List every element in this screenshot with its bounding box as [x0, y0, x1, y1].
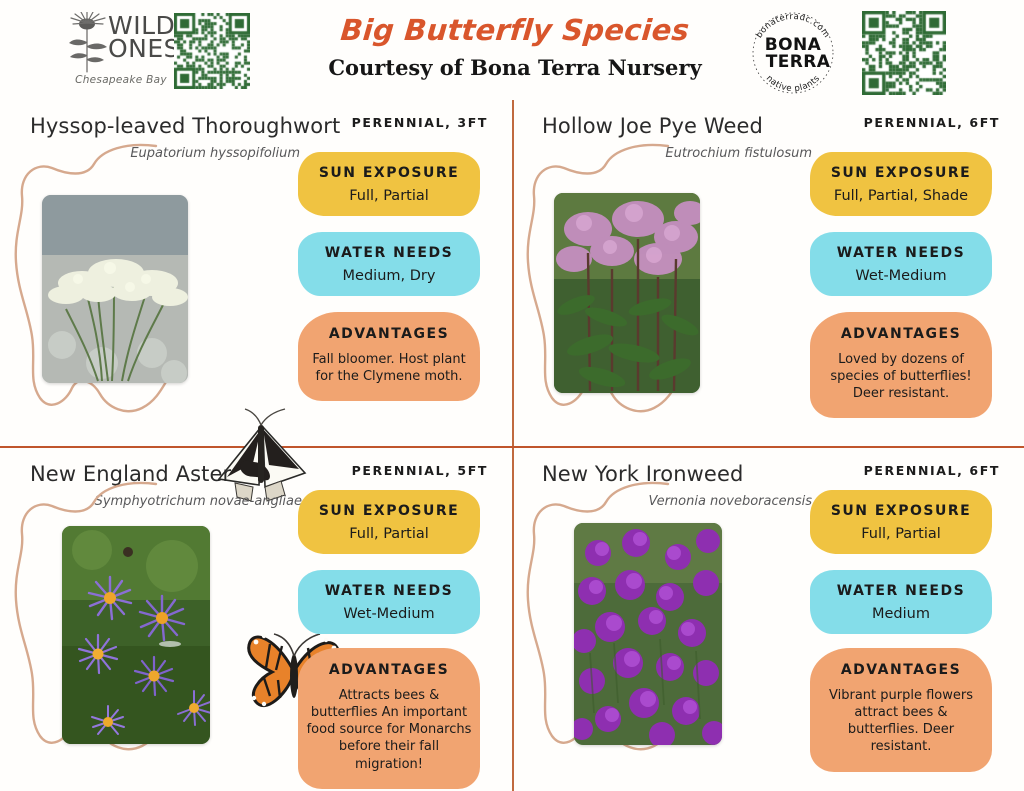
- wild-ones-chapter: Chesapeake Bay: [72, 74, 170, 86]
- advantages-label: ADVANTAGES: [306, 662, 472, 678]
- advantages-value: Attracts bees & butterflies An important…: [306, 687, 472, 773]
- svg-text:native plants: native plants: [764, 74, 822, 95]
- water-needs-pill: WATER NEEDS Medium: [810, 570, 992, 634]
- qr-code-bona-terra[interactable]: [862, 11, 946, 95]
- sun-exposure-value: Full, Partial: [298, 526, 480, 542]
- advantages-label: ADVANTAGES: [306, 326, 472, 342]
- advantages-pill: ADVANTAGES Attracts bees & butterflies A…: [298, 648, 480, 789]
- plant-latin-name: Eutrochium fistulosum: [542, 146, 812, 161]
- advantages-pill: ADVANTAGES Fall bloomer. Host plant for …: [298, 312, 480, 401]
- infographic-page: WILD ONES Chesapeake Bay Big Butterfly S…: [0, 0, 1024, 791]
- bona-terra-logo: bonaterradc.com native plants BONA TERRA: [748, 8, 838, 98]
- water-needs-pill: WATER NEEDS Medium, Dry: [298, 232, 480, 296]
- plant-habit-label: PERENNIAL, 6FT: [864, 115, 1000, 130]
- advantages-value: Fall bloomer. Host plant for the Clymene…: [306, 351, 472, 385]
- advantages-value: Vibrant purple flowers attract bees & bu…: [818, 687, 984, 756]
- water-needs-pill: WATER NEEDS Wet-Medium: [810, 232, 992, 296]
- sun-exposure-pill: SUN EXPOSURE Full, Partial: [298, 490, 480, 554]
- qr-code-wild-ones[interactable]: [174, 13, 250, 89]
- page-subtitle: Courtesy of Bona Terra Nursery: [300, 55, 730, 80]
- sun-exposure-label: SUN EXPOSURE: [298, 503, 480, 519]
- water-needs-value: Wet-Medium: [298, 606, 480, 622]
- plant-card-new-york-ironweed: New York Ironweed Vernonia noveboracensi…: [512, 448, 1024, 791]
- sun-exposure-label: SUN EXPOSURE: [298, 165, 480, 181]
- water-needs-label: WATER NEEDS: [298, 245, 480, 261]
- sun-exposure-pill: SUN EXPOSURE Full, Partial: [810, 490, 992, 554]
- coneflower-icon: [66, 12, 110, 74]
- sun-exposure-value: Full, Partial, Shade: [810, 188, 992, 204]
- water-needs-label: WATER NEEDS: [298, 583, 480, 599]
- advantages-pill: ADVANTAGES Vibrant purple flowers attrac…: [810, 648, 992, 772]
- plant-card-hyssop-leaved-thoroughwort: Hyssop-leaved Thoroughwort Eupatorium hy…: [0, 100, 512, 446]
- advantages-pill: ADVANTAGES Loved by dozens of species of…: [810, 312, 992, 418]
- plant-habit-label: PERENNIAL, 6FT: [864, 463, 1000, 478]
- wild-ones-wordmark: WILD ONES: [108, 14, 170, 60]
- sun-exposure-pill: SUN EXPOSURE Full, Partial, Shade: [810, 152, 992, 216]
- water-needs-label: WATER NEEDS: [810, 583, 992, 599]
- photo-hollow-joe-pye-weed: [554, 193, 700, 393]
- plant-name: New York Ironweed: [542, 462, 832, 486]
- water-needs-value: Wet-Medium: [810, 268, 992, 284]
- plant-habit-label: PERENNIAL, 5FT: [352, 463, 488, 478]
- plant-latin-name: Vernonia noveboracensis: [542, 494, 812, 509]
- plant-name: Hyssop-leaved Thoroughwort: [30, 114, 320, 138]
- photo-new-england-aster: [62, 526, 210, 744]
- title-block: Big Butterfly Species Courtesy of Bona T…: [300, 13, 730, 80]
- plant-habit-label: PERENNIAL, 3FT: [352, 115, 488, 130]
- bona-terra-wordmark: BONA TERRA: [748, 37, 838, 71]
- plant-name: New England Aster: [30, 462, 320, 486]
- sun-exposure-pill: SUN EXPOSURE Full, Partial: [298, 152, 480, 216]
- plant-latin-name: Eupatorium hyssopifolium: [30, 146, 300, 161]
- advantages-label: ADVANTAGES: [818, 326, 984, 342]
- sun-exposure-label: SUN EXPOSURE: [810, 165, 992, 181]
- advantages-value: Loved by dozens of species of butterflie…: [818, 351, 984, 402]
- plant-name: Hollow Joe Pye Weed: [542, 114, 832, 138]
- wild-ones-logo: WILD ONES Chesapeake Bay: [66, 8, 168, 94]
- plant-latin-name: Symphyotrichum novae-angliae: [30, 494, 302, 509]
- water-needs-value: Medium, Dry: [298, 268, 480, 284]
- bona-terra-line2: TERRA: [758, 54, 838, 71]
- water-needs-value: Medium: [810, 606, 992, 622]
- plant-card-new-england-aster: New England Aster Symphyotrichum novae-a…: [0, 448, 512, 791]
- sun-exposure-value: Full, Partial: [298, 188, 480, 204]
- page-title: Big Butterfly Species: [299, 13, 732, 47]
- sun-exposure-label: SUN EXPOSURE: [810, 503, 992, 519]
- plant-card-hollow-joe-pye-weed: Hollow Joe Pye Weed Eutrochium fistulosu…: [512, 100, 1024, 446]
- water-needs-pill: WATER NEEDS Wet-Medium: [298, 570, 480, 634]
- photo-new-york-ironweed: [574, 523, 722, 745]
- sun-exposure-value: Full, Partial: [810, 526, 992, 542]
- photo-hyssop-leaved-thoroughwort: [42, 195, 188, 383]
- header: WILD ONES Chesapeake Bay Big Butterfly S…: [0, 0, 1024, 100]
- water-needs-label: WATER NEEDS: [810, 245, 992, 261]
- wild-ones-line2: ONES: [108, 37, 170, 60]
- advantages-label: ADVANTAGES: [818, 662, 984, 678]
